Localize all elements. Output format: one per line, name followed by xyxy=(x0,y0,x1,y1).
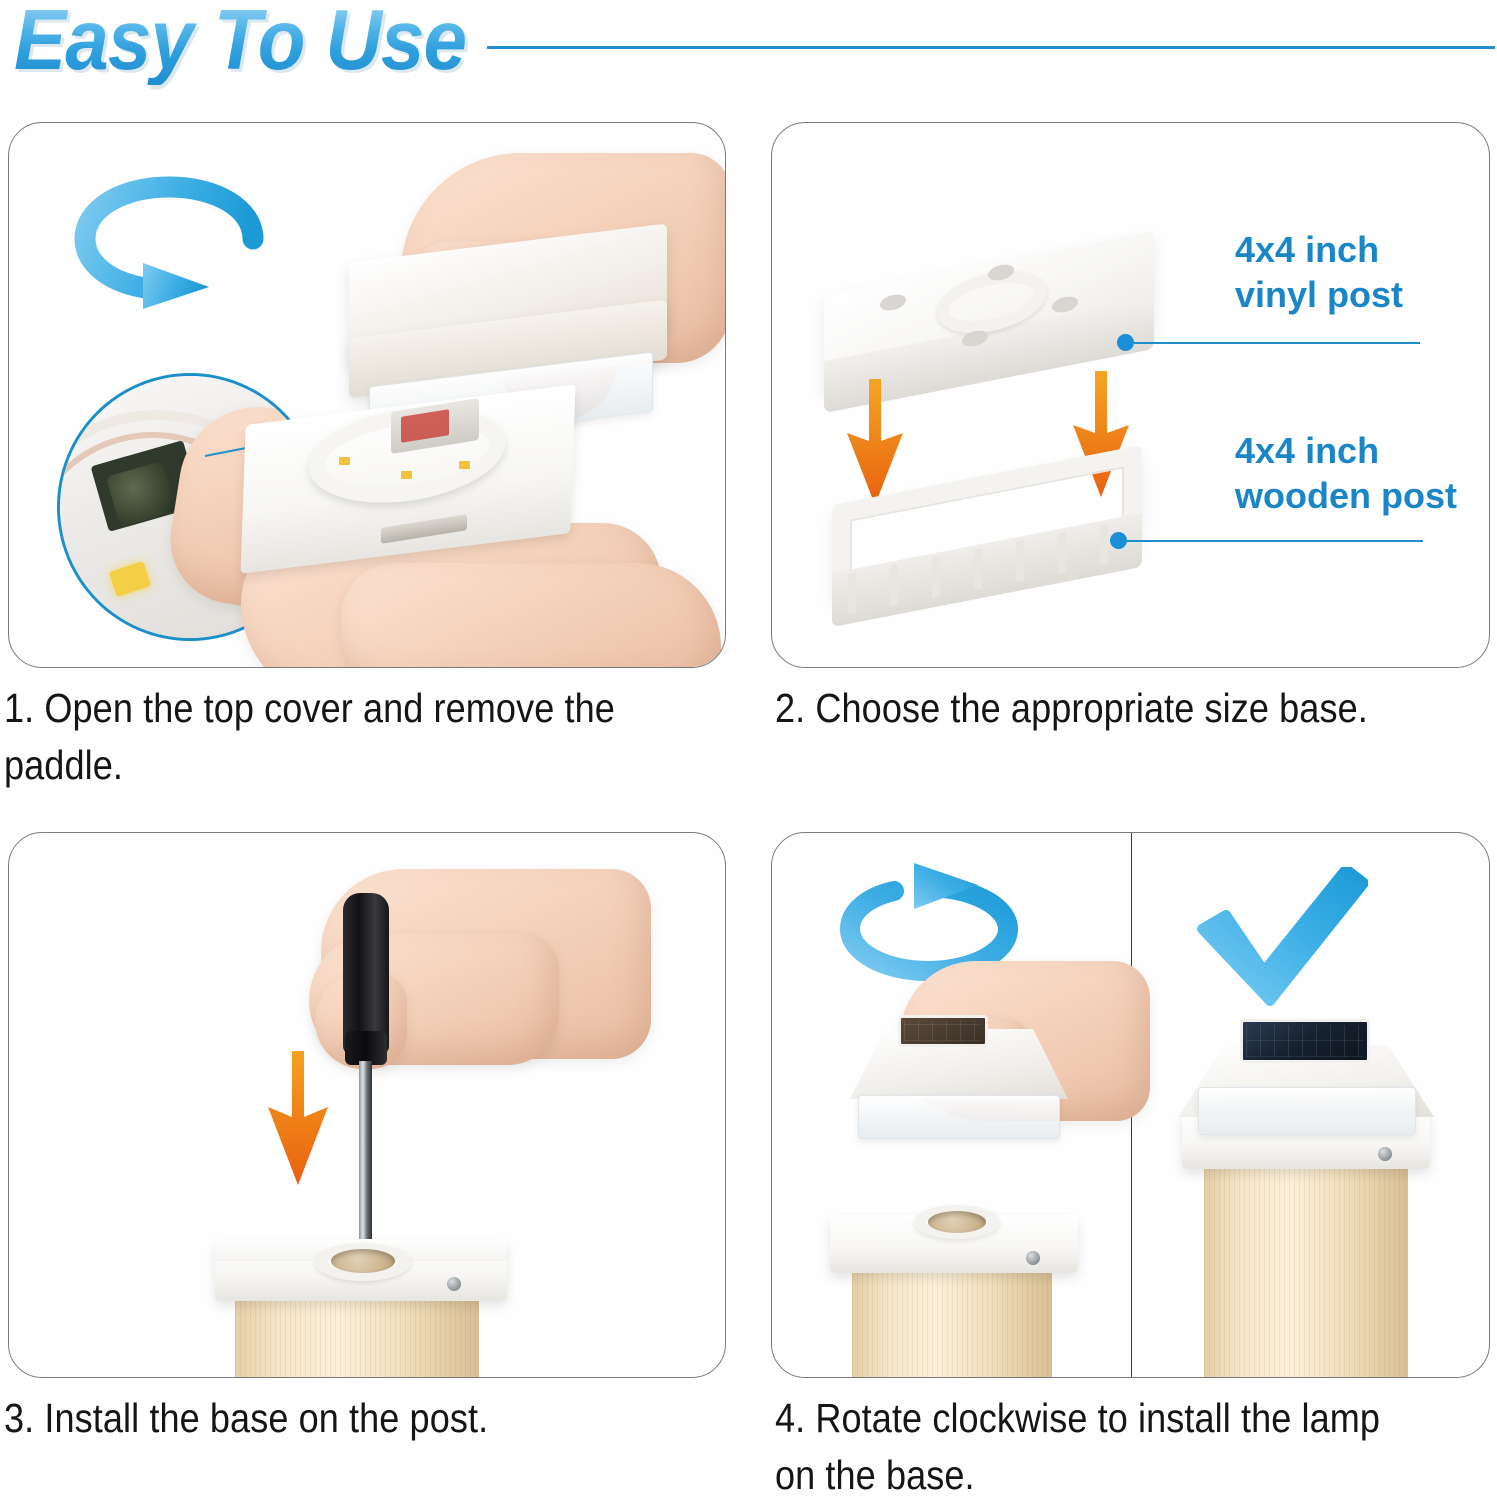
lamp-lens xyxy=(858,1095,1060,1139)
base-screw xyxy=(447,1277,461,1291)
wooden-post-label: 4x4 inch wooden post xyxy=(1235,428,1457,518)
step-3-image-panel xyxy=(8,832,726,1378)
header: Easy To Use Easy To Use xyxy=(0,0,1497,108)
wooden-post xyxy=(1204,1161,1408,1378)
rotate-clockwise-arrow-icon xyxy=(57,167,292,312)
page-title: Easy To Use xyxy=(14,0,466,85)
step-4-caption: 4. Rotate clockwise to install the lamp … xyxy=(775,1390,1497,1504)
solar-panel-small xyxy=(898,1015,988,1047)
led-chip xyxy=(401,471,412,479)
title-rule xyxy=(487,46,1495,49)
down-arrow-icon xyxy=(846,379,904,505)
lamp-lens xyxy=(1198,1087,1416,1135)
palm xyxy=(341,563,721,668)
base-screw xyxy=(1026,1251,1040,1265)
step-2-caption: 2. Choose the appropriate size base. xyxy=(775,680,1497,737)
vinyl-post-leader-line xyxy=(1130,342,1420,344)
wooden-post xyxy=(852,1263,1052,1378)
screwdriver-ferrule xyxy=(345,1031,387,1065)
led-chip xyxy=(339,457,350,465)
post-center-hole xyxy=(928,1211,986,1233)
solar-panel xyxy=(1240,1019,1370,1063)
post-center-hole xyxy=(331,1249,395,1273)
step-3-caption: 3. Install the base on the post. xyxy=(4,1390,761,1447)
vinyl-post-label: 4x4 inch vinyl post xyxy=(1235,227,1403,317)
wooden-post xyxy=(235,1291,479,1378)
wooden-post-leader-line xyxy=(1123,540,1423,542)
step-1-image-panel xyxy=(8,122,726,668)
base-screw xyxy=(1378,1147,1392,1161)
down-arrow-icon xyxy=(267,1051,329,1185)
step-1-caption: 1. Open the top cover and remove the pad… xyxy=(4,680,761,794)
led-chip xyxy=(459,461,470,469)
checkmark-icon xyxy=(1192,867,1368,1013)
step-4-image-panel xyxy=(771,832,1490,1378)
step-2-image-panel: 4x4 inch vinyl post 4x4 inch wooden post xyxy=(771,122,1490,668)
